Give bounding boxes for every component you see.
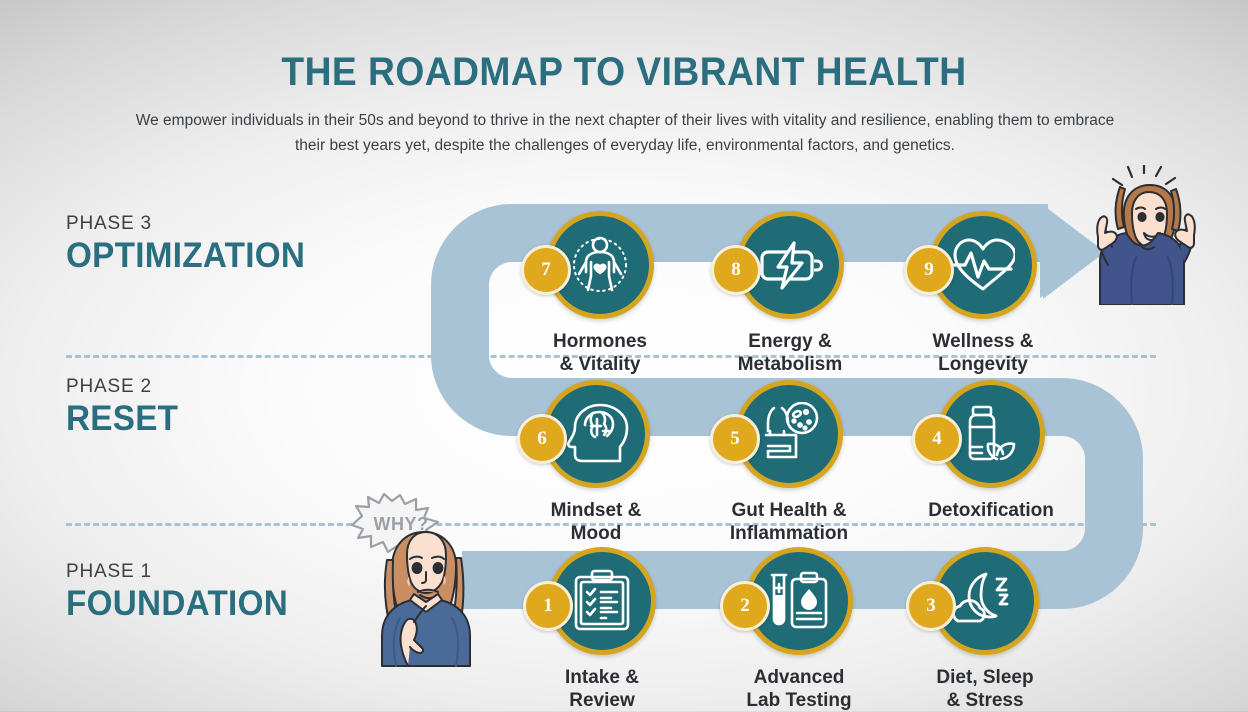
phase-2-name: RESET xyxy=(66,399,178,438)
head-brain-icon xyxy=(563,403,629,465)
step-7[interactable]: 7 Hormones & Vitality xyxy=(510,211,690,376)
step-6-badge: 6 xyxy=(517,414,567,464)
step-6-disc[interactable]: 6 xyxy=(542,380,650,488)
step-7-caption: Hormones & Vitality xyxy=(510,330,690,376)
step-2[interactable]: 2 Advanced Lab Testing xyxy=(709,547,889,712)
step-5-caption: Gut Health & Inflammation xyxy=(699,499,879,545)
step-5-badge: 5 xyxy=(710,414,760,464)
phase-3-name: OPTIMIZATION xyxy=(66,236,305,275)
step-3-caption: Diet, Sleep & Stress xyxy=(895,666,1075,712)
confused-woman-illustration xyxy=(352,498,498,668)
step-6[interactable]: 6 Mindset & Mood xyxy=(506,380,686,545)
body-heart-vitality-icon xyxy=(567,232,633,298)
step-2-disc[interactable]: 2 xyxy=(745,547,853,655)
step-4-badge: 4 xyxy=(912,414,962,464)
step-7-badge: 7 xyxy=(521,245,571,295)
step-1-badge: 1 xyxy=(523,581,573,631)
clipboard-checklist-icon xyxy=(572,569,632,633)
step-1-caption: Intake & Review xyxy=(512,666,692,712)
step-8-caption: Energy & Metabolism xyxy=(700,330,880,376)
step-8-badge: 8 xyxy=(711,245,761,295)
step-4[interactable]: 4 Detoxification xyxy=(901,380,1081,522)
step-9-disc[interactable]: 9 xyxy=(929,211,1037,319)
step-5[interactable]: 5 Gut Health & Inflammation xyxy=(699,380,879,545)
step-5-disc[interactable]: 5 xyxy=(735,380,843,488)
gut-microbiome-icon xyxy=(756,402,822,466)
moon-cloud-sleep-icon xyxy=(952,571,1018,631)
step-8[interactable]: 8 Energy & Metabolism xyxy=(700,211,880,376)
page-title: THE ROADMAP TO VIBRANT HEALTH xyxy=(44,50,1205,95)
step-2-caption: Advanced Lab Testing xyxy=(709,666,889,712)
infographic-canvas: THE ROADMAP TO VIBRANT HEALTH We empower… xyxy=(0,0,1248,711)
step-3[interactable]: 3 Diet, Sleep & Stress xyxy=(895,547,1075,712)
step-1[interactable]: 1 Intake & Review xyxy=(512,547,692,712)
step-2-badge: 2 xyxy=(720,581,770,631)
step-8-disc[interactable]: 8 xyxy=(736,211,844,319)
step-9-badge: 9 xyxy=(904,245,954,295)
phase-label-1: PHASE 1 FOUNDATION xyxy=(66,560,300,623)
step-9-caption: Wellness & Longevity xyxy=(893,330,1073,376)
step-6-caption: Mindset & Mood xyxy=(506,499,686,545)
celebrating-woman-illustration xyxy=(1080,165,1210,305)
battery-bolt-icon xyxy=(756,237,824,293)
phase-label-3: PHASE 3 OPTIMIZATION xyxy=(66,212,318,275)
supplement-bottle-leaf-icon xyxy=(959,403,1023,465)
step-7-disc[interactable]: 7 xyxy=(546,211,654,319)
phase-3-kicker: PHASE 3 xyxy=(66,212,318,236)
phase-1-kicker: PHASE 1 xyxy=(66,560,300,584)
test-tube-clipboard-icon xyxy=(766,569,832,633)
heart-pulse-icon xyxy=(951,235,1015,295)
step-9[interactable]: 9 Wellness & Longevity xyxy=(893,211,1073,376)
step-4-disc[interactable]: 4 xyxy=(937,380,1045,488)
step-1-disc[interactable]: 1 xyxy=(548,547,656,655)
phase-label-2: PHASE 2 RESET xyxy=(66,375,184,438)
phase-1-name: FOUNDATION xyxy=(66,584,288,623)
phase-2-kicker: PHASE 2 xyxy=(66,375,184,399)
step-4-caption: Detoxification xyxy=(901,499,1081,522)
step-3-disc[interactable]: 3 xyxy=(931,547,1039,655)
page-subtitle: We empower individuals in their 50s and … xyxy=(130,108,1120,159)
step-3-badge: 3 xyxy=(906,581,956,631)
